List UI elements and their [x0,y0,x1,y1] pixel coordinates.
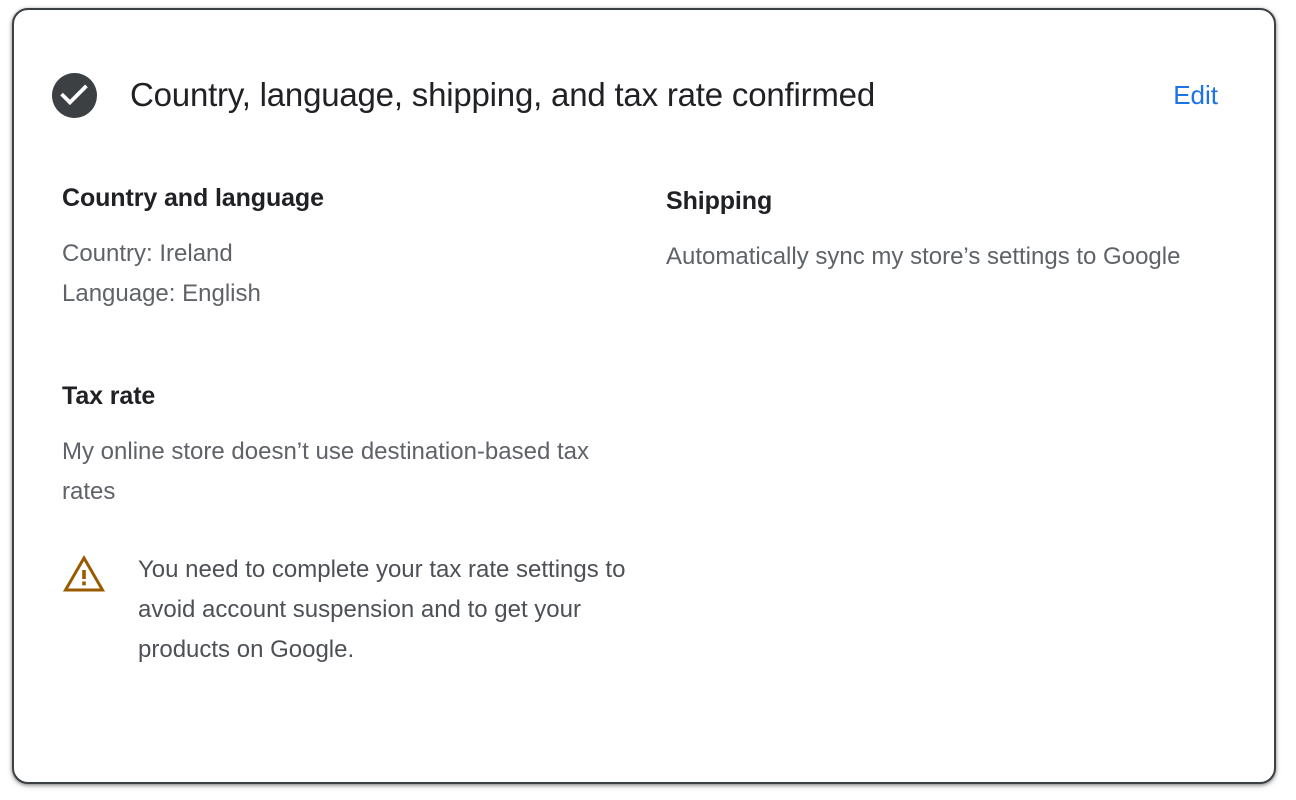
country-value: Country: Ireland [62,240,233,267]
tax-rate-value: My online store doesn’t use destination-… [62,432,607,512]
section-tax-rate: Tax rate My online store doesn’t use des… [62,380,666,670]
shipping-value: Automatically sync my store’s settings t… [666,237,1206,277]
edit-button[interactable]: Edit [1169,77,1222,113]
page-title: Country, language, shipping, and tax rat… [130,75,1169,115]
check-circle-icon [52,73,97,118]
warning-triangle-icon [62,552,106,596]
section-shipping: Shipping Automatically sync my store’s s… [666,185,1228,277]
tax-rate-warning: You need to complete your tax rate setti… [62,550,666,670]
confirmation-card: Country, language, shipping, and tax rat… [12,8,1276,784]
card-header: Country, language, shipping, and tax rat… [48,72,1228,118]
details-columns: Country and language Country: Ireland La… [48,182,1228,670]
country-and-language-heading: Country and language [62,182,666,214]
right-column: Shipping Automatically sync my store’s s… [666,182,1228,277]
page-root: Country, language, shipping, and tax rat… [0,0,1296,800]
shipping-heading: Shipping [666,185,1228,217]
country-and-language-values: Country: Ireland Language: English [62,234,607,314]
warning-message: You need to complete your tax rate setti… [138,550,638,670]
language-value: Language: English [62,280,261,307]
section-country-and-language: Country and language Country: Ireland La… [62,182,666,314]
card-content: Country, language, shipping, and tax rat… [14,10,1274,782]
tax-rate-heading: Tax rate [62,380,666,412]
left-column: Country and language Country: Ireland La… [62,182,666,670]
